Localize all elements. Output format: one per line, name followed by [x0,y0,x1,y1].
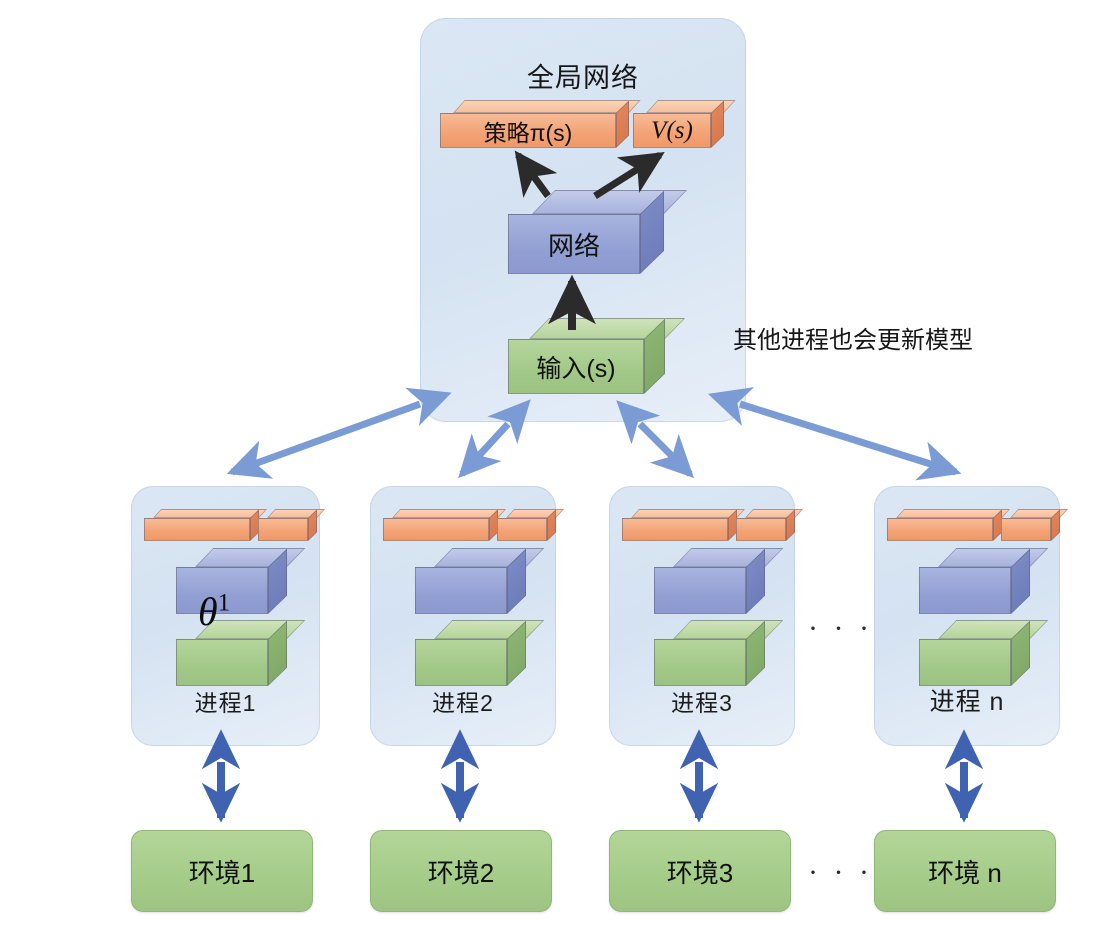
worker-title-2: 进程2 [370,684,556,718]
theta-superscript-1: 1 [218,590,231,617]
worker-environment-arrows [221,762,964,818]
global-policy-box: 策略π(s) [440,100,616,148]
environment-ellipsis: · · · [808,856,873,890]
global-network-box: 网络 [508,190,640,274]
arrow-global-worker-2 [462,424,508,474]
worker-input-box-2 [415,620,507,686]
worker-ellipsis: · · · [808,612,873,646]
worker-input-box-3 [654,620,746,686]
arrow-global-worker-3 [640,424,690,474]
arrow-global-worker-1 [232,404,420,472]
global-network-label: 网络 [508,214,640,274]
global-value-label: V(s) [633,113,711,148]
worker-title-3: 进程3 [609,684,795,718]
worker-theta-label-1: θ1 [198,588,230,635]
worker-title-1: 进程1 [131,684,320,718]
worker-network-box-3 [654,548,746,614]
worker-value-box-1 [258,509,308,541]
worker-value-box-n [1001,509,1051,541]
environment-box-1: 环境1 [131,830,313,912]
worker-policy-box-n [887,509,993,541]
worker-policy-box-2 [383,509,489,541]
worker-input-box-n [919,620,1011,686]
worker-policy-box-1 [144,509,250,541]
update-note-label: 其他进程也会更新模型 [733,320,973,355]
global-input-box: 输入(s) [508,318,644,394]
worker-network-box-n [919,548,1011,614]
worker-value-box-3 [736,509,786,541]
arrow-global-worker-n [740,404,956,472]
theta-symbol-1: θ [198,589,218,634]
global-input-label: 输入(s) [508,339,644,394]
global-policy-label: 策略π(s) [440,113,616,148]
worker-policy-box-3 [622,509,728,541]
environment-box-n: 环境 n [874,830,1056,912]
worker-value-box-2 [497,509,547,541]
global-value-box: V(s) [633,100,711,148]
worker-title-n: 进程 n [874,682,1060,718]
environment-box-3: 环境3 [609,830,791,912]
diagram-canvas: 全局网络 策略π(s) V(s) 网络 输入(s) 其他进程也会更新模型 进程1 [0,0,1120,931]
global-network-title: 全局网络 [420,56,746,95]
environment-box-2: 环境2 [370,830,552,912]
worker-network-box-2 [415,548,507,614]
